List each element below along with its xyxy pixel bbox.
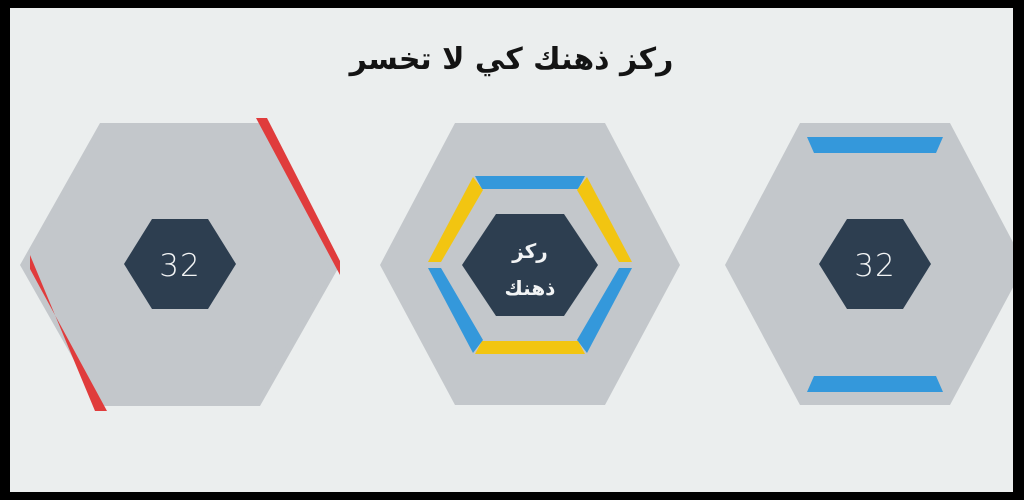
- hex-right-segment-bottom: [807, 376, 943, 392]
- hex-right-value: 32: [854, 248, 895, 284]
- letterbox-top: [0, 0, 1024, 8]
- ring-segment-top: [475, 176, 585, 189]
- letterbox-bottom: [0, 492, 1024, 500]
- hexagon-center[interactable]: ركز ذهنك: [365, 113, 695, 418]
- hexagon-left[interactable]: 32: [15, 113, 345, 418]
- hex-center-line-2: ذهنك: [505, 276, 556, 300]
- letterbox-left: [0, 0, 10, 500]
- game-canvas[interactable]: ركز ذهنك كي لا تخسر 32: [10, 8, 1013, 492]
- hex-center-line-1: ركز: [511, 239, 548, 263]
- hex-left-value: 32: [159, 248, 200, 284]
- ring-segment-bottom: [475, 341, 585, 354]
- hexagon-right[interactable]: 32: [710, 113, 1013, 418]
- letterbox-right: [1013, 0, 1024, 500]
- hex-right-segment-top: [807, 137, 943, 153]
- page-title: ركز ذهنك كي لا تخسر: [10, 42, 1013, 77]
